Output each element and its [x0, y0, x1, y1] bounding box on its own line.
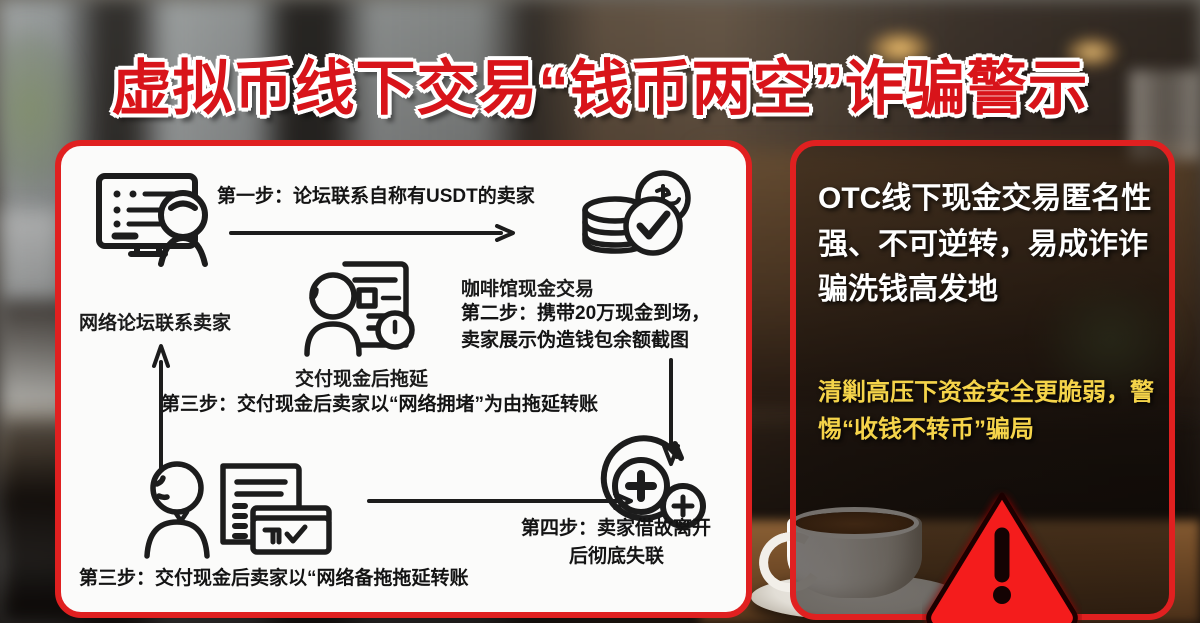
person-folder-check-icon [141, 452, 341, 567]
step-3-text: 第三步：交付现金后卖家以“网络拥堵”为由拖延转账 [161, 392, 598, 417]
step-2-line-2: 卖家展示伪造钱包余额截图 [461, 328, 689, 353]
coins-check-icon [577, 164, 697, 279]
step-1-text: 第一步：论坛联系自称有USDT的卖家 [217, 184, 535, 209]
warning-white-text: OTC线下现金交易匿名性强、不可逆转，易成诈诈骗洗钱高发地 [818, 176, 1163, 313]
warning-triangle-icon [922, 487, 1082, 623]
node-label-forum-seller: 网络论坛联系卖家 [79, 308, 231, 335]
page-title: 虚拟币线下交易“钱币两空”诈骗警示 [0, 40, 1200, 127]
monitor-person-icon [91, 168, 221, 293]
person-document-clock-icon [297, 254, 417, 369]
infographic-canvas: 虚拟币线下交易“钱币两空”诈骗警示 网络论坛联系卖家 第一步：论 [0, 0, 1200, 623]
arrow-step-1 [229, 224, 519, 242]
node-label-cafe-cash: 咖啡馆现金交易 [461, 274, 594, 301]
step-2-line-1: 第二步：携带20万现金到场， [461, 301, 710, 326]
step-3-duplicate-text: 第三步：交付现金后卖家以“网络备拖拖延转账 [79, 566, 469, 591]
warning-gold-text: 清剿高压下资金安全更脆弱，警惕“收钱不转币”骗局 [818, 374, 1163, 448]
node-label-delay-after-cash: 交付现金后拖延 [295, 364, 428, 391]
step-4-line-1: 第四步：卖家借故离开 [521, 516, 711, 541]
step-4-line-2: 后彻底失联 [569, 544, 664, 569]
fraud-flow-panel: 网络论坛联系卖家 第一步：论坛联系自称有USDT的卖家 咖啡馆现金交易 第二步：… [55, 140, 752, 618]
